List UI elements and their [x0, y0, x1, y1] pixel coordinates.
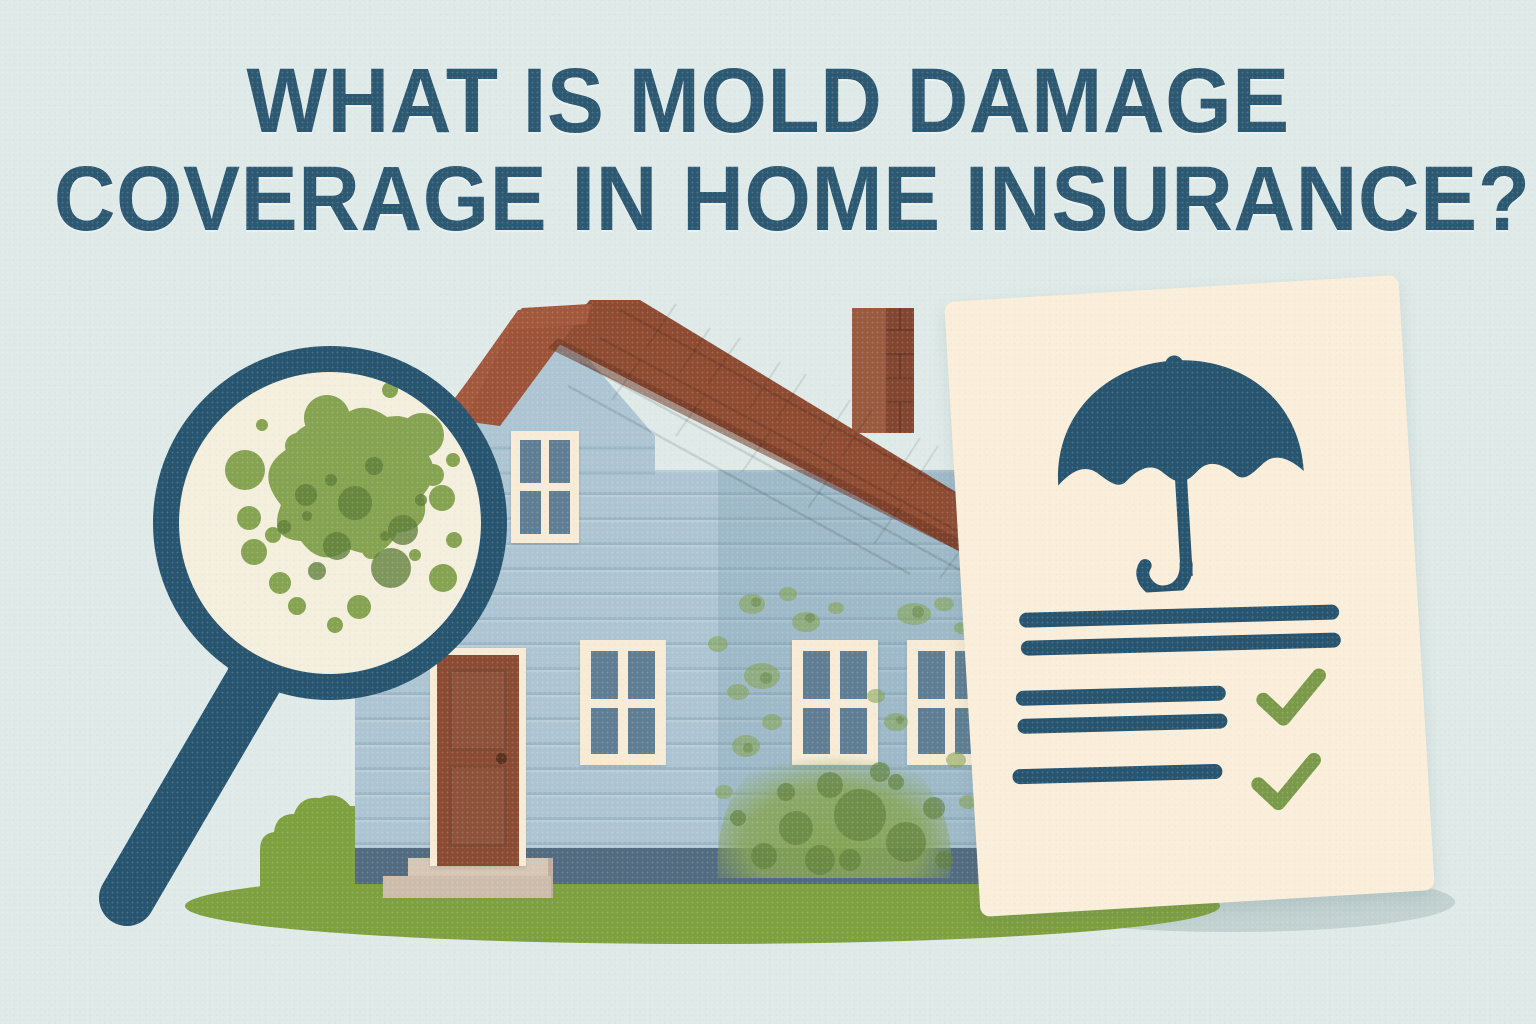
magnifier-handle — [127, 652, 263, 898]
checkmark-icon-2 — [1250, 752, 1325, 814]
illustration-canvas: WHAT IS MOLD DAMAGE COVERAGE IN HOME INS… — [0, 0, 1536, 1024]
umbrella-icon — [1042, 331, 1318, 598]
check-glyph — [1255, 668, 1330, 730]
window-pane — [591, 651, 618, 699]
front-window-left — [580, 640, 666, 765]
umbrella-glyph — [1042, 331, 1318, 598]
window-pane — [628, 708, 655, 754]
document-text-line-2 — [1021, 632, 1341, 655]
title-line-1: WHAT IS MOLD DAMAGE — [54, 52, 1482, 150]
document-text-line-3 — [1016, 686, 1226, 706]
document-text-line-1 — [1019, 604, 1339, 627]
window-pane — [628, 651, 655, 699]
title-line-2: COVERAGE IN HOME INSURANCE? — [54, 150, 1482, 248]
document-text-line-5 — [1012, 764, 1222, 784]
page-title: WHAT IS MOLD DAMAGE COVERAGE IN HOME INS… — [0, 52, 1536, 248]
window-pane — [591, 708, 618, 754]
magnifier-shape — [85, 330, 555, 930]
checkmark-icon-1 — [1255, 668, 1330, 730]
insurance-policy-document[interactable] — [944, 275, 1435, 917]
magnifying-glass-with-mold-spores — [85, 330, 555, 930]
document-text-line-4 — [1017, 713, 1227, 733]
check-glyph — [1250, 752, 1325, 814]
